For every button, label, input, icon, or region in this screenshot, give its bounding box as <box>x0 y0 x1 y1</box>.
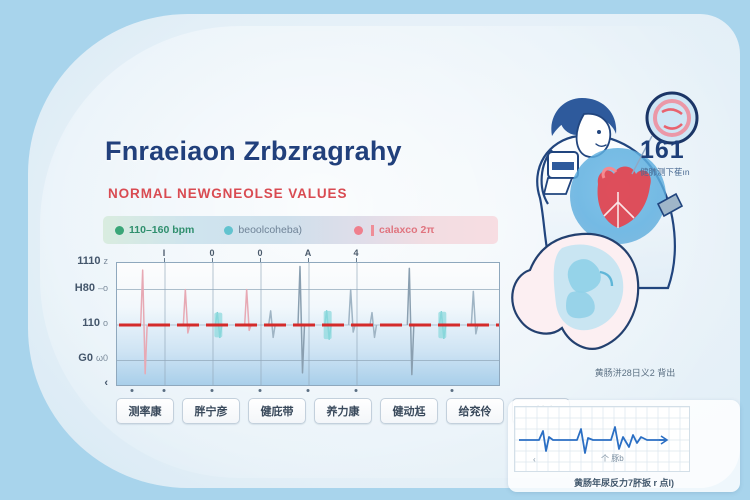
chart-y-axis: 1110zH80–o110oG0ω0‹ <box>50 252 112 392</box>
bottom-marker-5 <box>131 389 134 392</box>
legend-dot-green <box>115 226 124 235</box>
page-title: Fnraeiaon Zrbzragrahy <box>105 136 505 167</box>
ecg-caption: 黄肠年尿反力7肧扳 r 点l) <box>508 476 740 489</box>
legend-label-0: 110–160 bpm <box>129 224 194 236</box>
y-tick-4: ‹ <box>104 377 108 389</box>
bottom-marker-6 <box>451 389 454 392</box>
page-subtitle: NORMAL NEWGNEOLSE VALUES <box>108 186 508 201</box>
ecg-spike-0 <box>141 270 148 374</box>
fetal-heart-rate-chart: 1110zH80–o110oG0ω0‹ I00A4 <box>50 252 500 392</box>
ecg-strip-card: ‹ 个 豚b 黄肠年尿反力7肧扳 r 点l) <box>508 400 740 492</box>
x-tick-1: 0 <box>209 248 214 258</box>
x-tick-3: A <box>305 248 312 258</box>
legend-label-2: calaxco 2π <box>379 224 434 236</box>
legend-dot-cyan <box>224 226 233 235</box>
ecg-trace <box>117 263 500 386</box>
ecg-mark-right: 个 豚b <box>601 453 624 464</box>
y-tick-3: G0ω0 <box>78 352 108 364</box>
legend-label-1: beoolcoheba) <box>238 224 302 236</box>
bottom-marker-0 <box>163 389 166 392</box>
y-tick-2: 110o <box>82 317 108 329</box>
action-button-2[interactable]: 健庇带 <box>248 398 306 424</box>
ecg-spike-5 <box>298 267 305 373</box>
bpm-readout: 161 健肺测下萑ın <box>640 138 745 178</box>
ecg-grid: ‹ 个 豚b <box>514 406 690 472</box>
chart-legend: 110–160 bpm beoolcoheba) calaxco 2π <box>103 216 498 244</box>
action-button-5[interactable]: 给兖伶 <box>446 398 504 424</box>
bpm-value: 161 <box>640 138 745 163</box>
legend-item-normal-range: 110–160 bpm <box>115 224 194 236</box>
ecg-spike-9 <box>407 268 414 374</box>
bpm-label: 健肺测下萑ın <box>640 166 745 178</box>
womb-caption: 黄肠洴28日义2 背出 <box>540 366 730 379</box>
legend-dot-pink <box>354 226 363 235</box>
action-button-1[interactable]: 胖宁彦 <box>182 398 240 424</box>
x-tick-0: I <box>163 248 166 258</box>
legend-item-secondary: beoolcoheba) <box>224 224 302 236</box>
ecg-mark-left: ‹ <box>533 455 536 464</box>
y-tick-1: H80–o <box>75 282 108 294</box>
bottom-marker-1 <box>211 389 214 392</box>
bottom-marker-2 <box>259 389 262 392</box>
y-tick-0: 1110z <box>77 255 108 267</box>
x-tick-4: 4 <box>353 248 358 258</box>
bottom-marker-4 <box>355 389 358 392</box>
chart-x-axis: I00A4 <box>116 248 500 262</box>
legend-item-alert: calaxco 2π <box>354 224 434 236</box>
action-button-0[interactable]: 测率康 <box>116 398 174 424</box>
x-tick-2: 0 <box>257 248 262 258</box>
illustration-group <box>500 78 750 408</box>
ecg-spike-11 <box>471 291 478 334</box>
action-button-3[interactable]: 养力康 <box>314 398 372 424</box>
action-button-row: 测率康胖宁彦健庇带养力康健动尪给兖伶温健布 <box>116 398 506 428</box>
action-button-4[interactable]: 健动尪 <box>380 398 438 424</box>
bottom-marker-3 <box>307 389 310 392</box>
legend-bar-marker <box>371 225 374 236</box>
fetus-in-womb <box>512 234 638 349</box>
chart-bottom-markers <box>116 389 500 395</box>
chart-plot-area <box>116 262 500 386</box>
